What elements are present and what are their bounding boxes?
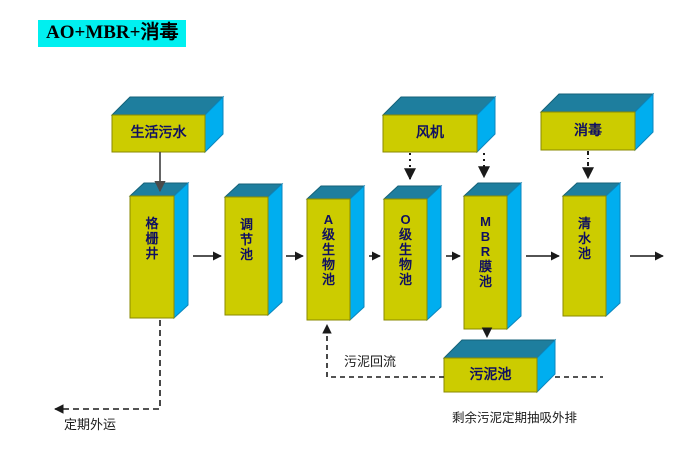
flow-sludge-return	[327, 325, 444, 377]
node-adjust-label: 调 节 池	[225, 217, 268, 262]
node-blower-label: 风机	[383, 124, 477, 141]
node-a-tank-label: A 级 生 物 池	[307, 212, 350, 287]
node-o-tank-label: O 级 生 物 池	[384, 212, 427, 287]
annotation-periodic-haul: 定期外运	[64, 418, 116, 431]
annotation-sludge-return: 污泥回流	[344, 355, 396, 368]
node-clearwater-label: 清 水 池	[563, 216, 606, 261]
node-sewage-label: 生活污水	[112, 124, 205, 141]
node-disinfect-label: 消毒	[541, 122, 635, 139]
annotation-excess-sludge: 剩余污泥定期抽吸外排	[452, 412, 577, 425]
node-mbr-label: M B R 膜 池	[464, 214, 507, 289]
node-sludge-tank-label: 污泥池	[444, 366, 537, 383]
flow-grate-to-haul	[55, 320, 160, 409]
node-grate-label: 格 栅 井	[130, 216, 174, 261]
